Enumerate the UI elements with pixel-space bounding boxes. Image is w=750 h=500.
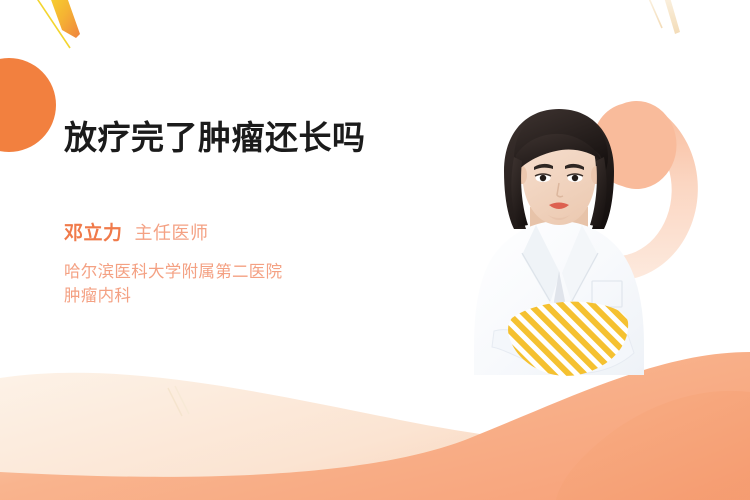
thin-line-bottom-left-b — [175, 386, 189, 414]
doctor-job-title: 主任医师 — [135, 219, 209, 245]
wave-bottom-light — [0, 373, 750, 500]
wave-bottom-salmon-inner — [556, 391, 750, 500]
doctor-name: 邓立力 — [64, 218, 123, 245]
thin-line-top-right-a — [648, 0, 662, 28]
pupil-left — [540, 175, 546, 181]
striped-blob-decor — [506, 300, 630, 378]
diagonal-stripe-top-left — [46, 0, 80, 38]
thin-line-top-left — [34, 0, 70, 48]
thin-line-top-right-b — [663, 0, 680, 34]
byline: 邓立力 主任医师 — [64, 218, 416, 245]
circle-decor-left — [0, 58, 56, 152]
page-title: 放疗完了肿瘤还长吗 — [64, 118, 416, 158]
department-name: 肿瘤内科 — [64, 284, 416, 308]
pupil-right — [572, 175, 578, 181]
affiliation: 哈尔滨医科大学附属第二医院 肿瘤内科 — [64, 260, 416, 308]
hospital-name: 哈尔滨医科大学附属第二医院 — [64, 260, 416, 284]
thin-line-bottom-left — [168, 388, 182, 416]
cover-card: 放疗完了肿瘤还长吗 邓立力 主任医师 哈尔滨医科大学附属第二医院 肿瘤内科 — [0, 0, 750, 500]
text-block: 放疗完了肿瘤还长吗 邓立力 主任医师 哈尔滨医科大学附属第二医院 肿瘤内科 — [64, 118, 416, 308]
